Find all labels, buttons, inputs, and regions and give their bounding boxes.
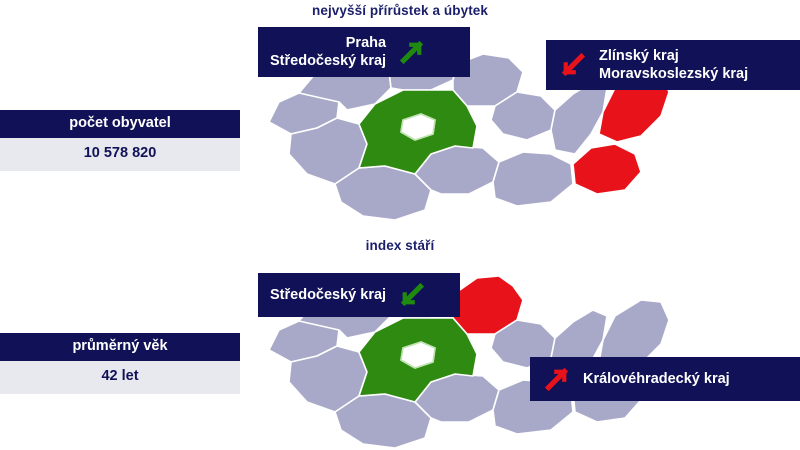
callout-line-stredocesky: Středočeský kraj — [270, 52, 386, 70]
callout-highest-decrease[interactable]: Zlínský kraj Moravskoslezský kraj — [546, 40, 800, 90]
stat-average-age-label: průměrný věk — [0, 333, 240, 361]
callout-highest-increase[interactable]: Praha Středočeský kraj — [258, 27, 470, 77]
stat-card-population: počet obyvatel 10 578 820 — [0, 110, 240, 171]
callout-line-zlinsky: Zlínský kraj — [599, 47, 748, 65]
region-olomoucky — [551, 82, 607, 154]
callout-highest-decrease-text: Zlínský kraj Moravskoslezský kraj — [599, 47, 748, 83]
callout-lowest-age-index[interactable]: Středočeský kraj — [258, 273, 460, 317]
callout-line-stredocesky-age: Středočeský kraj — [270, 286, 386, 304]
arrow-down-left-red-icon — [558, 50, 588, 80]
callout-highest-increase-text: Praha Středočeský kraj — [270, 34, 386, 70]
arrow-up-right-red-icon — [542, 364, 572, 394]
stat-population-label: počet obyvatel — [0, 110, 240, 138]
region-zlinsky-highlight — [573, 144, 641, 194]
arrow-up-right-green-icon — [397, 37, 427, 67]
stat-population-value: 10 578 820 — [0, 138, 240, 172]
callout-line-praha: Praha — [270, 34, 386, 52]
arrow-down-left-green-icon — [397, 280, 427, 310]
callout-line-moravskoslezsky: Moravskoslezský kraj — [599, 65, 748, 83]
callout-highest-age-index-text: Královéhradecký kraj — [583, 370, 730, 388]
stat-average-age-value: 42 let — [0, 361, 240, 395]
stat-card-average-age: průměrný věk 42 let — [0, 333, 240, 394]
region-jihomoravsky — [493, 152, 573, 206]
callout-line-kralovehradecky: Královéhradecký kraj — [583, 370, 730, 388]
callout-highest-age-index[interactable]: Královéhradecký kraj — [530, 357, 800, 401]
callout-lowest-age-index-text: Středočeský kraj — [270, 286, 386, 304]
